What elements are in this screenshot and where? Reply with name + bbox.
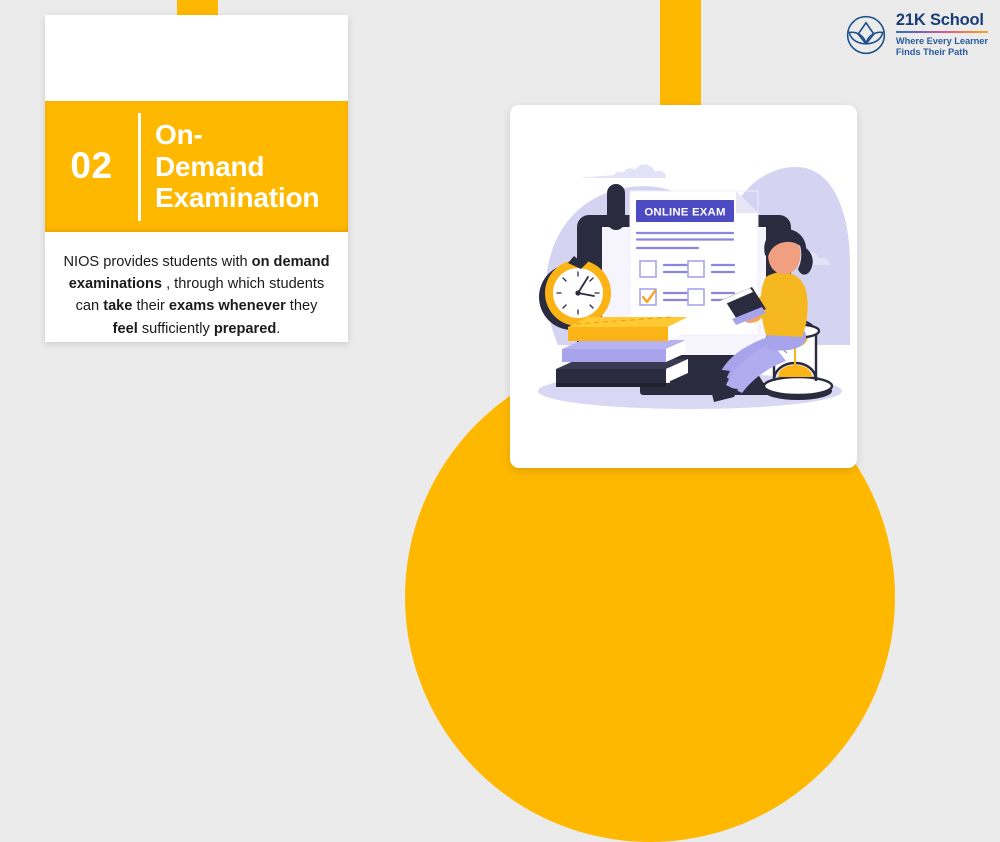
exam-banner: ONLINE EXAM [636,200,734,222]
card-header: 02 On- Demand Examination [45,101,348,232]
card-title-line-2: Demand [155,151,319,183]
stacked-books [556,317,688,387]
body-text: sufficiently [138,321,214,337]
lotus-in-circle-icon [845,14,887,56]
illustration-card: ONLINE EXAM [510,105,857,468]
emphasis-text: feel [113,321,138,337]
card-title-line-3: Examination [155,182,319,214]
checkbox-unchecked [688,261,704,277]
checkbox-unchecked [640,261,656,277]
body-text: they [286,298,318,314]
emphasis-text: exams whenever [169,298,286,314]
brand-tagline-line-2: Finds Their Path [896,47,988,58]
emphasis-text: prepared [214,321,276,337]
brand-tagline: Where Every Learner Finds Their Path [896,36,988,59]
brand-underline [896,31,988,34]
yellow-tab-right [660,0,701,116]
card-number: 02 [45,147,138,186]
exam-banner-label: ONLINE EXAM [644,207,725,219]
card-title: On- Demand Examination [155,119,319,215]
card-title-line-1: On- [155,119,319,151]
checkbox-unchecked [688,289,704,305]
body-text: their [132,298,169,314]
card-description: NIOS provides students with on demand ex… [45,237,348,340]
info-card: 02 On- Demand Examination NIOS provides … [45,15,348,342]
emphasis-text: take [103,298,132,314]
online-exam-illustration: ONLINE EXAM [510,105,857,468]
brand-name: 21K School [896,12,988,29]
brand-tagline-line-1: Where Every Learner [896,36,988,47]
header-divider [138,113,141,221]
brand-logo: 21K School Where Every Learner Finds The… [845,12,988,58]
body-text: NIOS provides students with [63,254,251,270]
slide-canvas: 02 On- Demand Examination NIOS provides … [0,0,1000,500]
body-text: . [276,321,280,337]
